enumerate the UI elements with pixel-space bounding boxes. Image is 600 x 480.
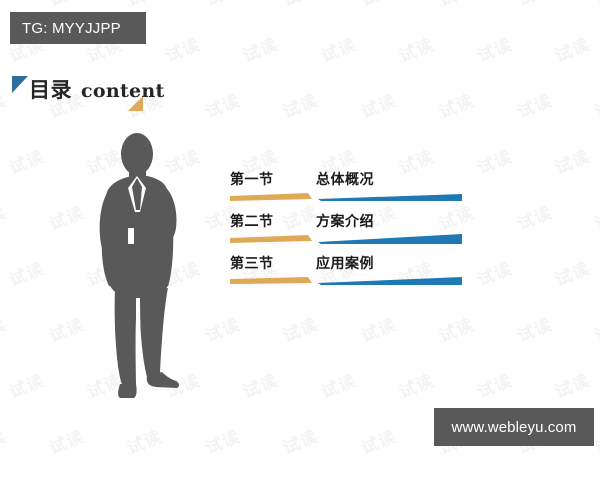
contents-list: 第一节 总体概况 第二节 方案介绍 (230, 166, 462, 292)
page-title-text: 目录 content (29, 74, 165, 104)
watermark-text: 试读 (357, 86, 400, 123)
watermark-text: 试读 (45, 198, 88, 235)
watermark-text: 试读 (435, 86, 478, 123)
page-title-cn: 目录 (29, 74, 72, 104)
site-watermark-label: www.webleyu.com (452, 419, 577, 436)
watermark-text: 试读 (0, 198, 9, 235)
watermark-text: 试读 (513, 0, 556, 11)
watermark-text: 试读 (551, 254, 594, 291)
watermark-text: 试读 (161, 30, 204, 67)
watermark-text: 试读 (0, 310, 9, 347)
watermark-text: 试读 (473, 254, 516, 291)
bar-orange-icon (230, 235, 312, 243)
section-number: 第三节 (230, 253, 316, 273)
watermark-text: 试读 (5, 142, 48, 179)
watermark-text: 试读 (591, 198, 600, 235)
row-underline-bars (230, 234, 462, 246)
watermark-text: 试读 (513, 310, 556, 347)
watermark-text: 试读 (45, 310, 88, 347)
watermark-text: 试读 (395, 30, 438, 67)
page-title-en: content (81, 80, 165, 102)
watermark-text: 试读 (45, 422, 88, 459)
bar-orange-icon (230, 193, 312, 201)
tg-badge: TG: MYYJJPP (10, 12, 146, 44)
slide-canvas: 试读试读试读试读试读试读试读试读试读试读试读试读试读试读试读试读试读试读试读试读… (0, 0, 600, 480)
list-item[interactable]: 第三节 应用案例 (230, 250, 462, 292)
watermark-text: 试读 (279, 422, 322, 459)
watermark-text: 试读 (0, 86, 9, 123)
watermark-text: 试读 (551, 142, 594, 179)
section-title: 方案介绍 (316, 211, 374, 231)
bar-orange-icon (230, 277, 312, 284)
watermark-text: 试读 (317, 30, 360, 67)
row-underline-bars (230, 192, 462, 204)
watermark-text: 试读 (357, 310, 400, 347)
row-labels: 第三节 应用案例 (230, 250, 462, 276)
watermark-text: 试读 (239, 366, 282, 403)
watermark-text: 试读 (279, 310, 322, 347)
watermark-text: 试读 (435, 0, 478, 11)
watermark-text: 试读 (551, 30, 594, 67)
watermark-text: 试读 (395, 366, 438, 403)
watermark-text: 试读 (473, 366, 516, 403)
row-underline-bars (230, 276, 462, 288)
watermark-text: 试读 (123, 0, 166, 11)
watermark-text: 试读 (45, 0, 88, 11)
watermark-text: 试读 (201, 86, 244, 123)
businessman-silhouette (84, 128, 206, 400)
watermark-text: 试读 (591, 310, 600, 347)
watermark-text: 试读 (123, 422, 166, 459)
watermark-text: 试读 (435, 310, 478, 347)
section-number: 第二节 (230, 211, 316, 231)
row-labels: 第二节 方案介绍 (230, 208, 462, 234)
bottom-strip (0, 458, 600, 480)
watermark-text: 试读 (513, 86, 556, 123)
watermark-text: 试读 (357, 0, 400, 11)
watermark-text: 试读 (591, 0, 600, 11)
triangle-blue-icon (12, 76, 28, 93)
watermark-text: 试读 (317, 366, 360, 403)
watermark-text: 试读 (279, 0, 322, 11)
watermark-text: 试读 (201, 310, 244, 347)
watermark-text: 试读 (0, 422, 9, 459)
tg-badge-label: TG: MYYJJPP (22, 20, 121, 37)
watermark-text: 试读 (357, 422, 400, 459)
watermark-text: 试读 (201, 422, 244, 459)
watermark-text: 试读 (591, 86, 600, 123)
section-number: 第一节 (230, 169, 316, 189)
watermark-text: 试读 (279, 86, 322, 123)
watermark-text: 试读 (201, 0, 244, 11)
watermark-text: 试读 (0, 0, 9, 11)
watermark-text: 试读 (239, 30, 282, 67)
section-title: 总体概况 (316, 169, 374, 189)
list-item[interactable]: 第一节 总体概况 (230, 166, 462, 208)
watermark-text: 试读 (473, 30, 516, 67)
section-title: 应用案例 (316, 253, 374, 273)
watermark-text: 试读 (551, 366, 594, 403)
watermark-text: 试读 (5, 366, 48, 403)
site-watermark-badge: www.webleyu.com (434, 408, 594, 446)
watermark-text: 试读 (513, 198, 556, 235)
bar-blue-icon (318, 277, 462, 285)
watermark-text: 试读 (5, 254, 48, 291)
bar-blue-icon (318, 194, 462, 201)
row-labels: 第一节 总体概况 (230, 166, 462, 192)
list-item[interactable]: 第二节 方案介绍 (230, 208, 462, 250)
watermark-text: 试读 (473, 142, 516, 179)
bar-blue-icon (318, 234, 462, 244)
